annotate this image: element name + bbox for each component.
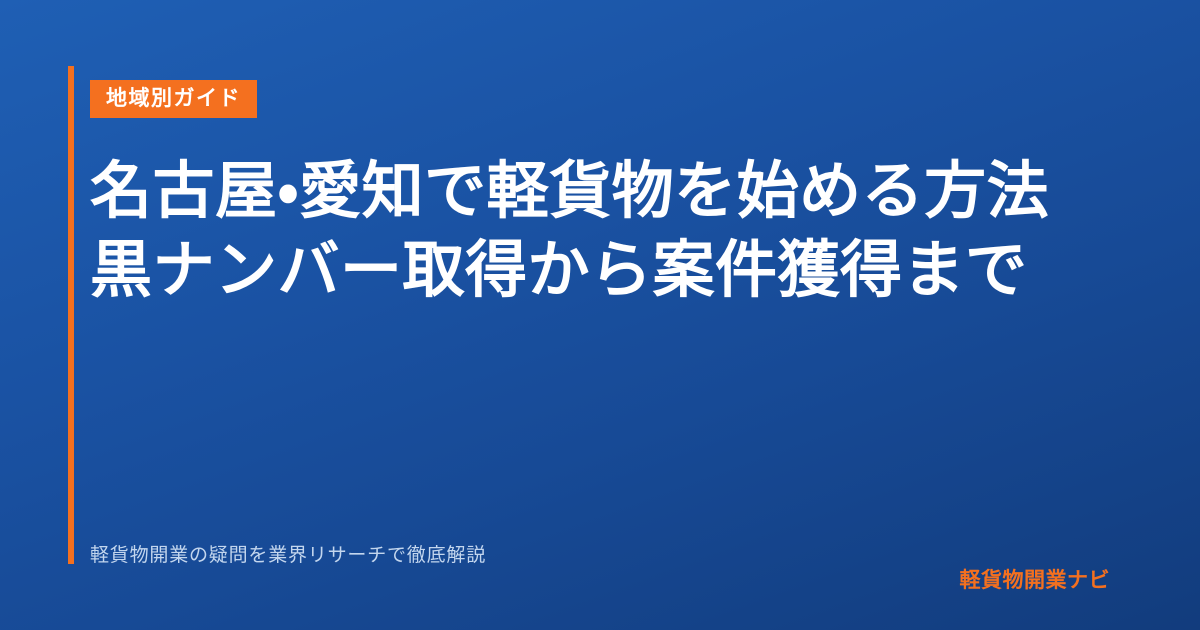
card-content: 地域別ガイド 名古屋・愛知で軽貨物を始める方法黒ナンバー取得から案件獲得まで 軽…	[90, 0, 1110, 630]
brand-logo-text: 軽貨物開業ナビ	[960, 570, 1111, 591]
hero-card: 地域別ガイド 名古屋・愛知で軽貨物を始める方法黒ナンバー取得から案件獲得まで 軽…	[0, 0, 1200, 630]
accent-bar	[68, 66, 74, 564]
page-title: 名古屋・愛知で軽貨物を始める方法黒ナンバー取得から案件獲得まで	[90, 152, 1090, 311]
subtitle-text: 軽貨物開業の疑問を業界リサーチで徹底解説	[90, 546, 486, 565]
category-badge: 地域別ガイド	[90, 80, 257, 118]
